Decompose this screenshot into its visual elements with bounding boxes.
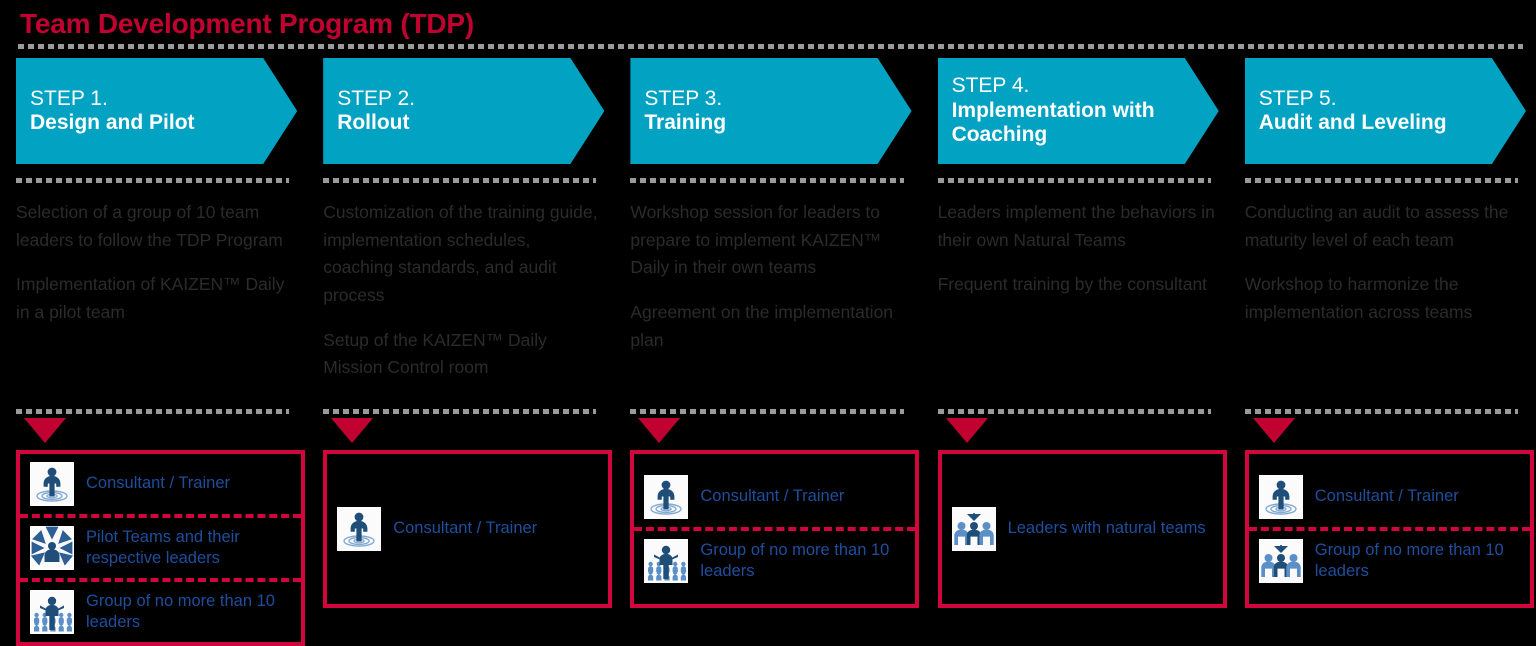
step-heading: STEP 3.Training bbox=[630, 87, 726, 136]
caret-down-icon bbox=[24, 418, 66, 443]
step-heading: STEP 1.Design and Pilot bbox=[16, 87, 195, 136]
participants-box-3: Consultant / TrainerGroup of no more tha… bbox=[630, 450, 919, 608]
natural-teams-icon bbox=[952, 507, 996, 551]
connector-1 bbox=[16, 414, 297, 450]
consultant-icon bbox=[644, 475, 688, 519]
step-column-1: STEP 1.Design and PilotSelection of a gr… bbox=[0, 58, 307, 629]
step-banner-2[interactable]: STEP 2.Rollout bbox=[323, 58, 604, 164]
consultant-icon bbox=[1259, 475, 1303, 519]
step-name: Rollout bbox=[337, 111, 415, 135]
connector-2 bbox=[323, 414, 604, 450]
step-name: Training bbox=[644, 111, 726, 135]
connector-4 bbox=[938, 414, 1219, 450]
participant-row: Consultant / Trainer bbox=[1249, 467, 1530, 527]
natural-teams-icon bbox=[1259, 539, 1303, 583]
step-paragraph: Customization of the training guide, imp… bbox=[323, 199, 604, 310]
step-column-2: STEP 2.RolloutCustomization of the train… bbox=[307, 58, 614, 629]
step-name: Audit and Leveling bbox=[1259, 111, 1447, 135]
participant-row: Leaders with natural teams bbox=[942, 499, 1223, 559]
participant-row: Group of no more than 10 leaders bbox=[634, 527, 915, 591]
step-banner-1[interactable]: STEP 1.Design and Pilot bbox=[16, 58, 297, 164]
caret-down-icon bbox=[946, 418, 988, 443]
step-banner-4[interactable]: STEP 4.Implementation with Coaching bbox=[938, 58, 1219, 164]
step-paragraph: Agreement on the implementation plan bbox=[630, 299, 911, 354]
participant-label: Consultant / Trainer bbox=[700, 486, 844, 507]
participant-row: Pilot Teams and their respective leaders bbox=[20, 514, 301, 578]
step-paragraph: Implementation of KAIZEN™ Daily in a pil… bbox=[16, 271, 297, 326]
step-heading: STEP 5.Audit and Leveling bbox=[1245, 87, 1447, 136]
title-divider bbox=[18, 44, 1523, 49]
page-title: Team Development Program (TDP) bbox=[20, 8, 474, 40]
step-paragraph: Frequent training by the consultant bbox=[938, 271, 1219, 299]
step-paragraph: Workshop session for leaders to prepare … bbox=[630, 199, 911, 282]
connector-3 bbox=[630, 414, 911, 450]
caret-down-icon bbox=[331, 418, 373, 443]
step-name: Design and Pilot bbox=[30, 111, 195, 135]
participants-box-4: Leaders with natural teams bbox=[938, 450, 1227, 608]
step-description-1: Selection of a group of 10 team leaders … bbox=[16, 199, 297, 409]
step-name: Implementation with Coaching bbox=[952, 99, 1219, 148]
consultant-icon bbox=[337, 507, 381, 551]
step-paragraph: Conducting an audit to assess the maturi… bbox=[1245, 199, 1526, 254]
tdp-infographic: { "page": { "title": "Team Development P… bbox=[0, 0, 1536, 629]
participant-label: Pilot Teams and their respective leaders bbox=[86, 527, 293, 570]
participant-row: Group of no more than 10 leaders bbox=[1249, 527, 1530, 591]
step-description-4: Leaders implement the behaviors in their… bbox=[938, 199, 1219, 409]
steps-container: STEP 1.Design and PilotSelection of a gr… bbox=[0, 58, 1536, 629]
participant-label: Group of no more than 10 leaders bbox=[1315, 540, 1522, 583]
step-number: STEP 2. bbox=[337, 87, 415, 111]
step-description-2: Customization of the training guide, imp… bbox=[323, 199, 604, 409]
participant-label: Group of no more than 10 leaders bbox=[700, 540, 907, 583]
participant-label: Group of no more than 10 leaders bbox=[86, 591, 293, 634]
pilot-team-icon bbox=[30, 526, 74, 570]
step-heading: STEP 4.Implementation with Coaching bbox=[938, 74, 1219, 147]
step-divider-top-1 bbox=[16, 178, 289, 183]
participant-label: Consultant / Trainer bbox=[1315, 486, 1459, 507]
step-paragraph: Workshop to harmonize the implementation… bbox=[1245, 271, 1526, 326]
step-paragraph: Leaders implement the behaviors in their… bbox=[938, 199, 1219, 254]
leader-group-icon bbox=[644, 539, 688, 583]
step-divider-top-3 bbox=[630, 178, 903, 183]
caret-down-icon bbox=[1253, 418, 1295, 443]
step-banner-3[interactable]: STEP 3.Training bbox=[630, 58, 911, 164]
step-paragraph: Setup of the KAIZEN™ Daily Mission Contr… bbox=[323, 327, 604, 382]
step-divider-top-5 bbox=[1245, 178, 1518, 183]
participant-label: Leaders with natural teams bbox=[1008, 518, 1206, 539]
participants-box-1: Consultant / TrainerPilot Teams and thei… bbox=[16, 450, 305, 646]
participants-box-5: Consultant / TrainerGroup of no more tha… bbox=[1245, 450, 1534, 608]
participant-row: Consultant / Trainer bbox=[327, 499, 608, 559]
leader-group-icon bbox=[30, 590, 74, 634]
step-column-3: STEP 3.TrainingWorkshop session for lead… bbox=[614, 58, 921, 629]
participant-row: Group of no more than 10 leaders bbox=[20, 578, 301, 642]
step-paragraph: Selection of a group of 10 team leaders … bbox=[16, 199, 297, 254]
step-divider-top-4 bbox=[938, 178, 1211, 183]
step-column-5: STEP 5.Audit and LevelingConducting an a… bbox=[1229, 58, 1536, 629]
caret-down-icon bbox=[638, 418, 680, 443]
step-number: STEP 5. bbox=[1259, 87, 1447, 111]
step-number: STEP 3. bbox=[644, 87, 726, 111]
participant-row: Consultant / Trainer bbox=[634, 467, 915, 527]
step-column-4: STEP 4.Implementation with CoachingLeade… bbox=[922, 58, 1229, 629]
participants-box-2: Consultant / Trainer bbox=[323, 450, 612, 608]
consultant-icon bbox=[30, 462, 74, 506]
step-heading: STEP 2.Rollout bbox=[323, 87, 415, 136]
step-divider-top-2 bbox=[323, 178, 596, 183]
participant-label: Consultant / Trainer bbox=[86, 473, 230, 494]
step-description-5: Conducting an audit to assess the maturi… bbox=[1245, 199, 1526, 409]
step-number: STEP 1. bbox=[30, 87, 195, 111]
participant-row: Consultant / Trainer bbox=[20, 454, 301, 514]
connector-5 bbox=[1245, 414, 1526, 450]
step-banner-5[interactable]: STEP 5.Audit and Leveling bbox=[1245, 58, 1526, 164]
participant-label: Consultant / Trainer bbox=[393, 518, 537, 539]
step-number: STEP 4. bbox=[952, 74, 1219, 98]
step-description-3: Workshop session for leaders to prepare … bbox=[630, 199, 911, 409]
